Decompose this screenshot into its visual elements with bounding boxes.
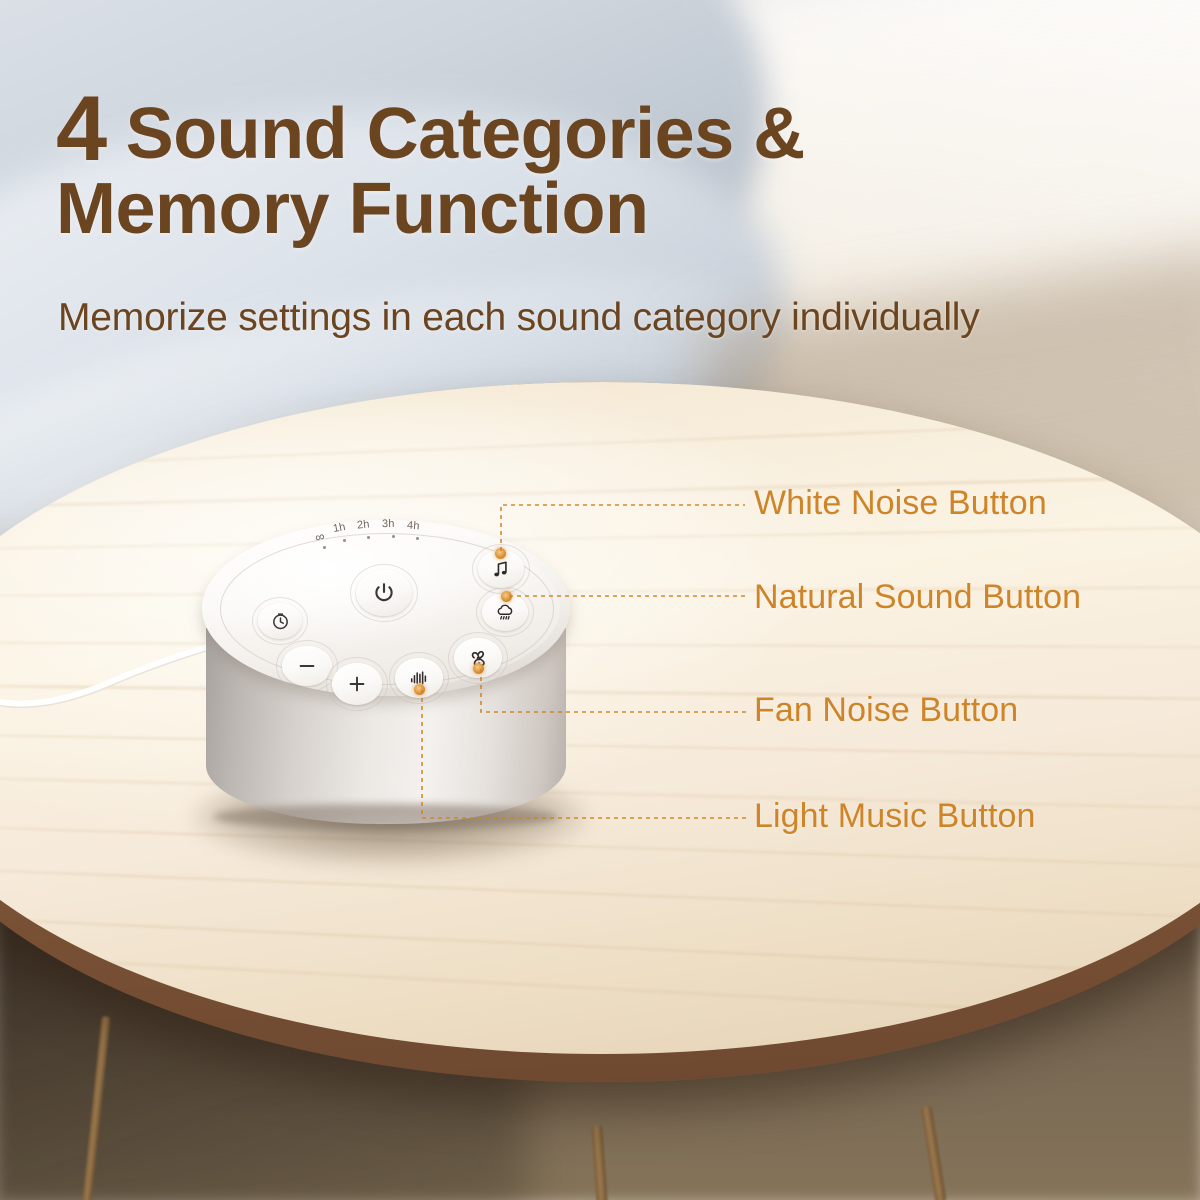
- callout-marker-white-noise: [495, 548, 506, 559]
- rain-cloud-icon: [494, 602, 516, 623]
- callout-marker-light-music: [414, 684, 425, 695]
- minus-icon: [296, 655, 318, 677]
- white-noise-machine: ∞ 1h 2h 3h 4h: [196, 508, 586, 858]
- timer-dot: [416, 537, 419, 540]
- callout-marker-fan-noise: [473, 663, 484, 674]
- page-subtitle: Memorize settings in each sound category…: [58, 296, 980, 340]
- volume-up-button[interactable]: [332, 663, 382, 705]
- callout-label-natural-sound: Natural Sound Button: [754, 578, 1081, 617]
- callout-marker-natural-sound: [501, 591, 512, 602]
- timer-dot: [367, 536, 370, 539]
- headline-line-1: Sound Categories &: [106, 94, 805, 174]
- callout-label-white-noise: White Noise Button: [754, 484, 1047, 523]
- power-icon: [372, 581, 396, 605]
- callout-label-fan-noise: Fan Noise Button: [754, 691, 1018, 730]
- power-button[interactable]: [356, 570, 412, 616]
- timer-label-1h: 1h: [332, 521, 347, 535]
- clock-icon: [271, 612, 290, 631]
- timer-dot: [392, 535, 395, 538]
- headline-number: 4: [56, 78, 106, 180]
- timer-dot: [323, 546, 326, 549]
- callout-label-light-music: Light Music Button: [754, 797, 1036, 836]
- timer-dot: [343, 539, 346, 542]
- timer-button[interactable]: [258, 603, 302, 639]
- plus-icon: [346, 673, 368, 695]
- infographic-canvas: ∞ 1h 2h 3h 4h: [0, 0, 1200, 1200]
- timer-label-3h: 3h: [382, 518, 395, 530]
- page-title: 4 Sound Categories & Memory Function: [56, 88, 1016, 245]
- music-note-icon: [491, 559, 511, 580]
- timer-label-4h: 4h: [407, 520, 420, 533]
- timer-label-2h: 2h: [356, 518, 370, 531]
- headline-line-2: Memory Function: [56, 175, 1016, 245]
- volume-down-button[interactable]: [282, 646, 332, 686]
